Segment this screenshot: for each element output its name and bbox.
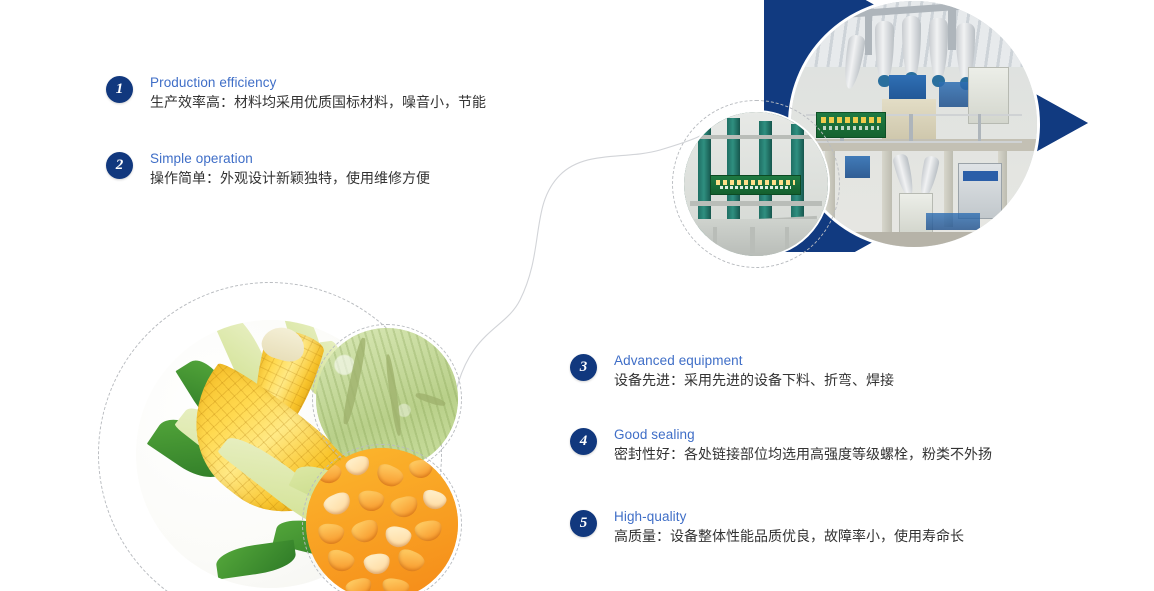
feature-desc-3: 设备先进：采用先进的设备下料、折弯、焊接 bbox=[614, 370, 894, 391]
feature-item-3[interactable]: 3 Advanced equipment 设备先进：采用先进的设备下料、折弯、焊… bbox=[570, 352, 894, 391]
feature-item-1[interactable]: 1 Production efficiency 生产效率高：材料均采用优质国标材… bbox=[106, 74, 486, 113]
page-root: 1 Production efficiency 生产效率高：材料均采用优质国标材… bbox=[0, 0, 1154, 591]
feature-desc-4: 密封性好：各处链接部位均选用高强度等级螺栓，粉类不外扬 bbox=[614, 444, 992, 465]
feature-title-3: Advanced equipment bbox=[614, 352, 894, 369]
feature-badge-5: 5 bbox=[570, 510, 597, 537]
feature-item-5[interactable]: 5 High-quality 高质量：设备整体性能品质优良，故障率小，使用寿命长 bbox=[570, 508, 964, 547]
feature-badge-4: 4 bbox=[570, 428, 597, 455]
banner-sign-small bbox=[710, 175, 801, 194]
feature-item-4[interactable]: 4 Good sealing 密封性好：各处链接部位均选用高强度等级螺栓，粉类不… bbox=[570, 426, 992, 465]
hexagon-photo-group bbox=[668, 0, 1098, 264]
feature-badge-1: 1 bbox=[106, 76, 133, 103]
feature-desc-2: 操作简单：外观设计新颖独特，使用维修方便 bbox=[150, 168, 430, 189]
photo-green-machinery bbox=[682, 110, 830, 258]
food-photo-group bbox=[88, 280, 508, 591]
feature-badge-2: 2 bbox=[106, 152, 133, 179]
feature-item-2[interactable]: 2 Simple operation 操作简单：外观设计新颖独特，使用维修方便 bbox=[106, 150, 430, 189]
feature-desc-1: 生产效率高：材料均采用优质国标材料，噪音小，节能 bbox=[150, 92, 486, 113]
feature-title-1: Production efficiency bbox=[150, 74, 486, 91]
feature-title-2: Simple operation bbox=[150, 150, 430, 167]
feature-badge-3: 3 bbox=[570, 354, 597, 381]
feature-title-4: Good sealing bbox=[614, 426, 992, 443]
photo-corn-kernels bbox=[306, 448, 458, 591]
feature-desc-5: 高质量：设备整体性能品质优良，故障率小，使用寿命长 bbox=[614, 526, 964, 547]
feature-title-5: High-quality bbox=[614, 508, 964, 525]
